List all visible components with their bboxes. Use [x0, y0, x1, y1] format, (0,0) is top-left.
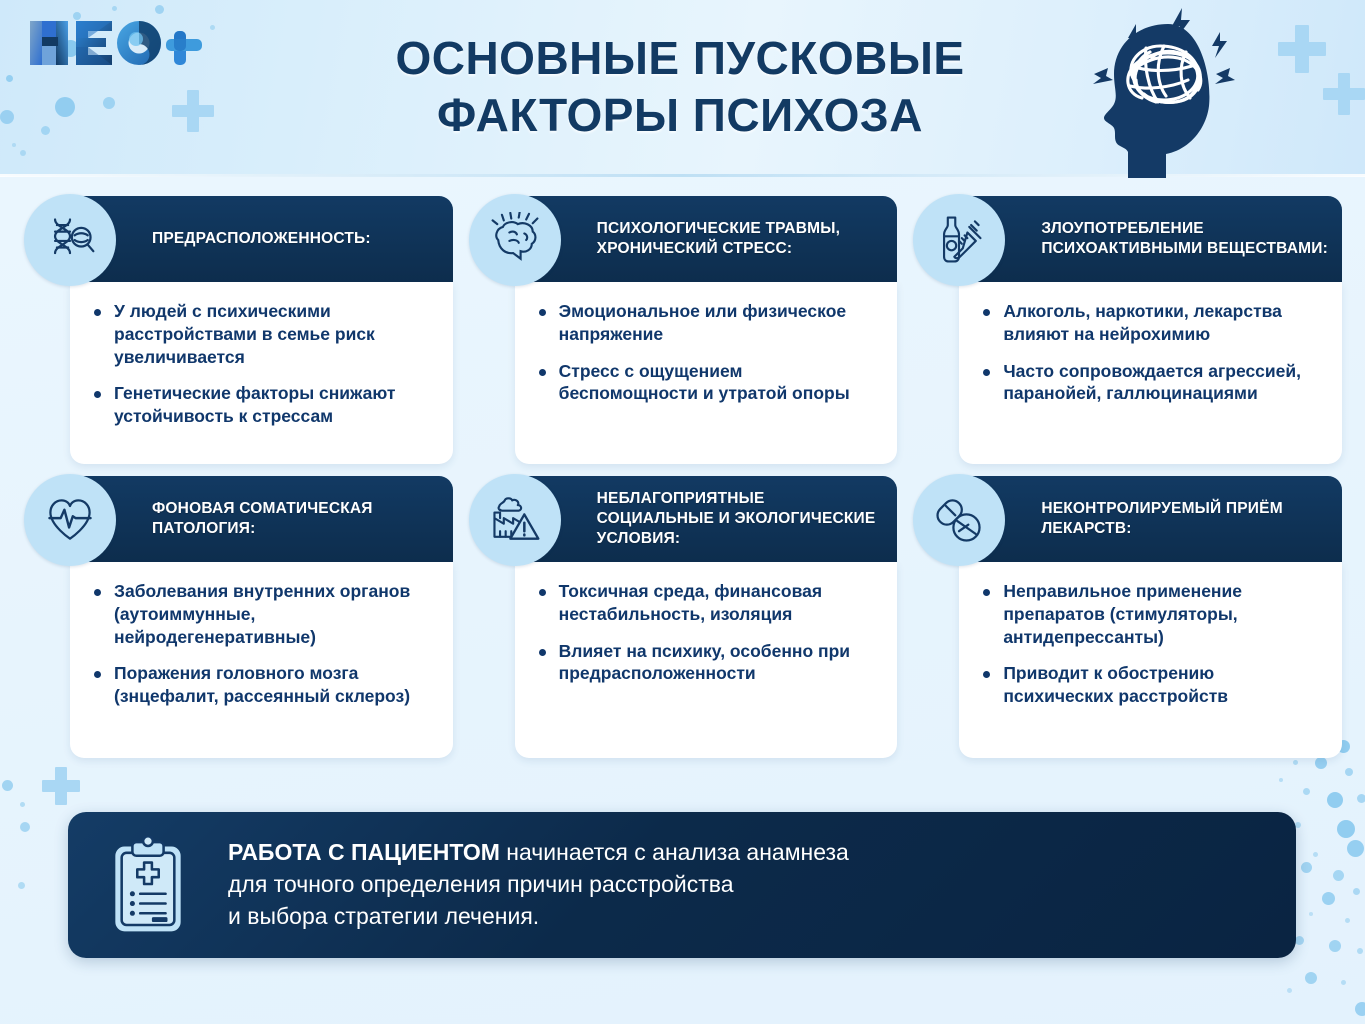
decorative-plus-top-right-small — [1323, 73, 1365, 115]
card-body: У людей с психическими расстройствами в … — [70, 282, 453, 464]
card-body: Эмоциональное или физическое напряжение … — [515, 282, 898, 464]
list-item: Поражения головного мозга (знцефалит, ра… — [84, 662, 435, 708]
card-bullet-list: У людей с психическими расстройствами в … — [84, 300, 435, 428]
heart-pulse-icon — [24, 474, 116, 566]
page-title-line-1: ОСНОВНЫЕ ПУСКОВЫЕ — [395, 30, 964, 88]
card-bullet-list: Заболевания внутренних органов (аутоимму… — [84, 580, 435, 708]
footer-lead: РАБОТА С ПАЦИЕНТОМ — [228, 839, 500, 865]
list-item: Алкоголь, наркотики, лекарства влияют на… — [973, 300, 1324, 346]
card-body: Токсичная среда, финансовая нестабильнос… — [515, 562, 898, 758]
card-header: ЗЛОУПОТРЕБЛЕНИЕ ПСИХОАКТИВНЫМИ ВЕЩЕСТВАМ… — [959, 196, 1342, 282]
decorative-plus-top-right-large — [1278, 25, 1326, 73]
head-with-tangled-brain-illustration — [1060, 2, 1260, 178]
factor-cards-grid: ПРЕДРАСПОЛОЖЕННОСТЬ: У людей с психическ… — [24, 196, 1342, 758]
decorative-plus-top-left — [172, 90, 214, 132]
list-item: У людей с психическими расстройствами в … — [84, 300, 435, 368]
clipboard-medical-icon — [68, 836, 228, 934]
list-item: Заболевания внутренних органов (аутоимму… — [84, 580, 435, 648]
infographic-page: ОСНОВНЫЕ ПУСКОВЫЕ ФАКТОРЫ ПСИХОЗА — [0, 0, 1365, 1024]
list-item: Влияет на психику, особенно при предрасп… — [529, 640, 880, 686]
card-bullet-list: Неправильное применение препаратов (стим… — [973, 580, 1324, 708]
list-item: Неправильное применение препаратов (стим… — [973, 580, 1324, 648]
page-title: ОСНОВНЫЕ ПУСКОВЫЕ ФАКТОРЫ ПСИХОЗА — [300, 22, 1060, 152]
card-body: Алкоголь, наркотики, лекарства влияют на… — [959, 282, 1342, 464]
footer-line-1: РАБОТА С ПАЦИЕНТОМ начинается с анализа … — [228, 837, 849, 869]
footer-line-1-rest: начинается с анализа анамнеза — [500, 839, 849, 865]
factory-warning-icon — [469, 474, 561, 566]
card-header: ПРЕДРАСПОЛОЖЕННОСТЬ: — [70, 196, 453, 282]
card-bullet-list: Алкоголь, наркотики, лекарства влияют на… — [973, 300, 1324, 405]
decorative-plus-bottom-left — [42, 767, 80, 805]
card-header: ФОНОВАЯ СОМАТИЧЕСКАЯ ПАТОЛОГИЯ: — [70, 476, 453, 562]
card-title: ФОНОВАЯ СОМАТИЧЕСКАЯ ПАТОЛОГИЯ: — [70, 499, 453, 539]
list-item: Эмоциональное или физическое напряжение — [529, 300, 880, 346]
footer-line-2: для точного определения причин расстройс… — [228, 869, 849, 901]
card-title: ПРЕДРАСПОЛОЖЕННОСТЬ: — [70, 229, 385, 249]
dna-magnifier-icon — [24, 194, 116, 286]
list-item: Часто сопровождается агрессией, паранойе… — [973, 360, 1324, 406]
page-title-line-2: ФАКТОРЫ ПСИХОЗА — [437, 87, 923, 145]
card-body: Неправильное применение препаратов (стим… — [959, 562, 1342, 758]
factor-card: ПСИХОЛОГИЧЕСКИЕ ТРАВМЫ, ХРОНИЧЕСКИЙ СТРЕ… — [469, 196, 898, 464]
pills-icon — [913, 474, 1005, 566]
factor-card: ФОНОВАЯ СОМАТИЧЕСКАЯ ПАТОЛОГИЯ: Заболева… — [24, 476, 453, 758]
list-item: Генетические факторы снижают устойчивост… — [84, 382, 435, 428]
card-body: Заболевания внутренних органов (аутоимму… — [70, 562, 453, 758]
factor-card: НЕКОНТРОЛИРУЕМЫЙ ПРИЁМ ЛЕКАРСТВ: Неправи… — [913, 476, 1342, 758]
factor-card: ПРЕДРАСПОЛОЖЕННОСТЬ: У людей с психическ… — [24, 196, 453, 464]
neo-plus-logo[interactable] — [26, 17, 204, 69]
list-item: Токсичная среда, финансовая нестабильнос… — [529, 580, 880, 626]
card-header: ПСИХОЛОГИЧЕСКИЕ ТРАВМЫ, ХРОНИЧЕСКИЙ СТРЕ… — [515, 196, 898, 282]
card-title: ПСИХОЛОГИЧЕСКИЕ ТРАВМЫ, ХРОНИЧЕСКИЙ СТРЕ… — [515, 219, 898, 259]
card-title: НЕБЛАГОПРИЯТНЫЕ СОЦИАЛЬНЫЕ И ЭКОЛОГИЧЕСК… — [515, 489, 898, 548]
card-title: НЕКОНТРОЛИРУЕМЫЙ ПРИЁМ ЛЕКАРСТВ: — [959, 499, 1342, 539]
card-header: НЕКОНТРОЛИРУЕМЫЙ ПРИЁМ ЛЕКАРСТВ: — [959, 476, 1342, 562]
bottle-syringe-icon — [913, 194, 1005, 286]
card-header: НЕБЛАГОПРИЯТНЫЕ СОЦИАЛЬНЫЕ И ЭКОЛОГИЧЕСК… — [515, 476, 898, 562]
footer-line-3: и выбора стратегии лечения. — [228, 901, 849, 933]
footer-callout-banner: РАБОТА С ПАЦИЕНТОМ начинается с анализа … — [68, 812, 1296, 958]
list-item: Стресс с ощущением беспомощности и утрат… — [529, 360, 880, 406]
factor-card: НЕБЛАГОПРИЯТНЫЕ СОЦИАЛЬНЫЕ И ЭКОЛОГИЧЕСК… — [469, 476, 898, 758]
card-bullet-list: Эмоциональное или физическое напряжение … — [529, 300, 880, 405]
stressed-brain-icon — [469, 194, 561, 286]
factor-card: ЗЛОУПОТРЕБЛЕНИЕ ПСИХОАКТИВНЫМИ ВЕЩЕСТВАМ… — [913, 196, 1342, 464]
card-bullet-list: Токсичная среда, финансовая нестабильнос… — [529, 580, 880, 685]
list-item: Приводит к обострению психических расстр… — [973, 662, 1324, 708]
footer-text: РАБОТА С ПАЦИЕНТОМ начинается с анализа … — [228, 837, 879, 932]
card-title: ЗЛОУПОТРЕБЛЕНИЕ ПСИХОАКТИВНЫМИ ВЕЩЕСТВАМ… — [959, 219, 1342, 259]
